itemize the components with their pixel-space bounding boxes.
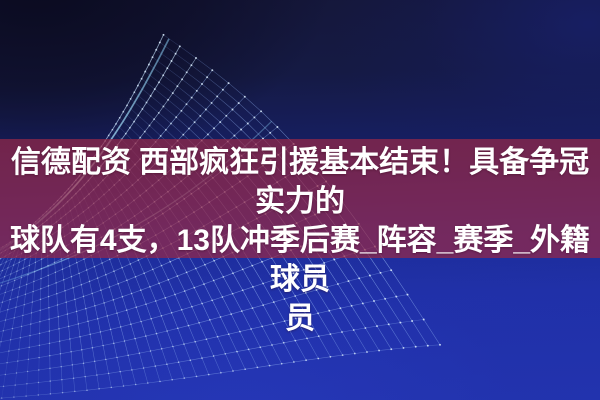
banner-image: 信德配资 西部疯狂引援基本结束！具备争冠实力的 球队有4支，13队冲季后赛_阵容… xyxy=(0,0,600,400)
headline-text: 信德配资 西部疯狂引援基本结束！具备争冠实力的 球队有4支，13队冲季后赛_阵容… xyxy=(0,143,600,338)
